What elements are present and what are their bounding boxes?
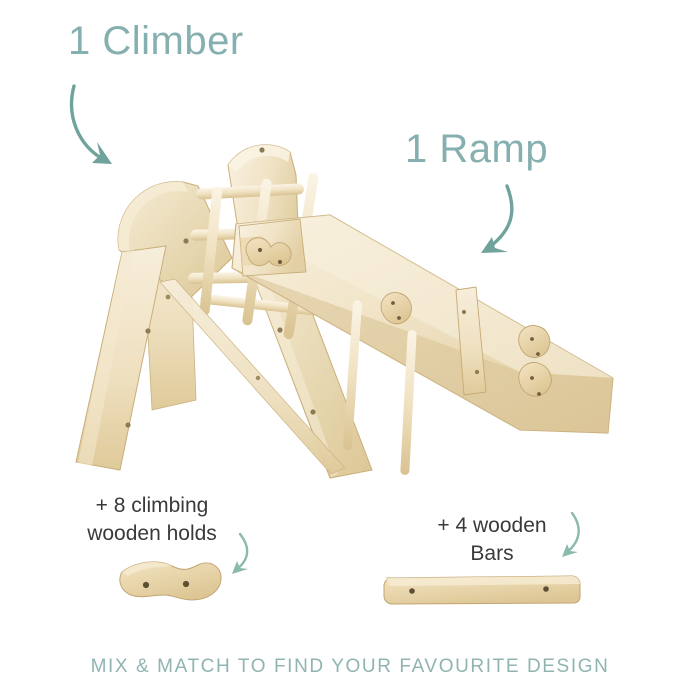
bars-label-line1: + 4 wooden: [412, 512, 572, 540]
wooden-climbing-hold-icon: [120, 562, 221, 600]
holds-component-label: + 8 climbing wooden holds: [62, 492, 242, 549]
holds-label-line2: wooden holds: [62, 520, 242, 548]
infographic-canvas: 1 Climber 1 Ramp + 8 climbing wooden hol…: [0, 0, 700, 700]
bars-component-label: + 4 wooden Bars: [412, 512, 572, 569]
footer-tagline: MIX & MATCH TO FIND YOUR FAVOURITE DESIG…: [0, 656, 700, 678]
wooden-bar-icon: [384, 576, 580, 604]
holds-label-line1: + 8 climbing: [62, 492, 242, 520]
ramp-callout-arrow: [481, 186, 512, 253]
bars-label-line2: Bars: [412, 540, 572, 568]
product-illustration: [0, 0, 700, 700]
climber-callout-label: 1 Climber: [68, 20, 244, 62]
ramp-callout-label: 1 Ramp: [405, 128, 548, 170]
climber-callout-arrow: [72, 86, 112, 164]
ramp-climbing-hold: [519, 363, 552, 397]
ramp-climbing-hold: [519, 326, 550, 358]
